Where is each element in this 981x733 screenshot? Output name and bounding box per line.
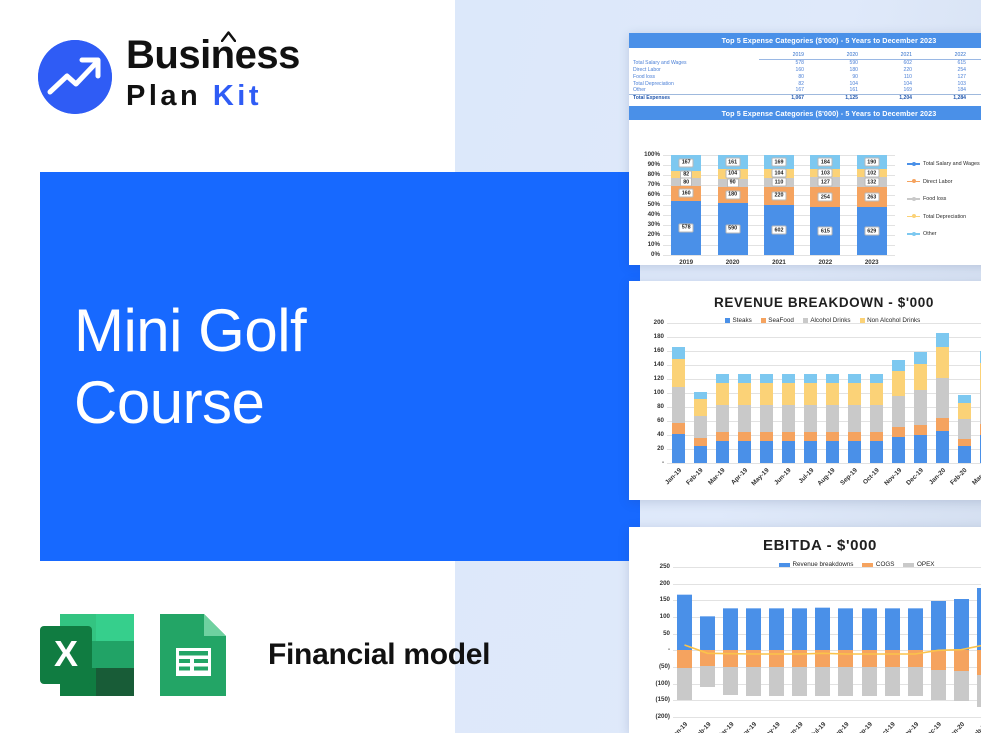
- axis-label-cell: May-19: [765, 719, 788, 733]
- axis-label-cell: Dec-19: [927, 719, 950, 733]
- bar-value-label: 263: [864, 193, 879, 202]
- bar-group: [738, 323, 751, 463]
- legend-label: Food loss: [923, 196, 946, 202]
- axis-label-cell: Feb-20: [973, 719, 981, 733]
- google-sheets-icon: [144, 612, 242, 698]
- axis-label-cell: Jun-19: [777, 465, 799, 495]
- expense-bars: 1678280160578161104901805901691041102206…: [663, 155, 895, 255]
- axis-label: Jan-19: [670, 721, 689, 733]
- legend-item[interactable]: Other: [907, 231, 981, 237]
- bar-group: [936, 323, 949, 463]
- brand-plan-text: Plan: [126, 80, 201, 112]
- axis-label: Jun-19: [773, 467, 793, 487]
- bar-group: [958, 323, 971, 463]
- ebitda-chart-title: EBITDA - $'000: [629, 537, 981, 554]
- bar-group: [760, 323, 773, 463]
- legend-label: Total Salary and Wages: [923, 161, 980, 167]
- axis-label: Feb-20: [949, 467, 969, 487]
- revenue-bars: [667, 323, 981, 463]
- bar-group: 1678280160578: [671, 155, 701, 255]
- ebitda-card[interactable]: EBITDA - $'000 Revenue breakdownsCOGSOPE…: [629, 527, 981, 733]
- ebitda-chart-plot: 25020015010050-(50)(100)(150)(200): [673, 567, 981, 717]
- legend-label: Other: [923, 231, 936, 237]
- revenue-chart-title: REVENUE BREAKDOWN - $'000: [629, 295, 981, 310]
- axis-label-cell: Jan-19: [673, 719, 696, 733]
- axis-label: Sep-19: [854, 721, 874, 733]
- axis-label: Feb-19: [693, 721, 713, 733]
- axis-label-cell: Mar-19: [719, 719, 742, 733]
- axis-label: May-19: [761, 721, 781, 733]
- bar-value-label: 590: [725, 224, 740, 233]
- bar-value-label: 161: [725, 158, 740, 167]
- slide-canvas: Business Plan Kit Mini Golf Course: [0, 0, 981, 733]
- axis-label: 2023: [857, 259, 887, 265]
- axis-label-cell: Jul-19: [811, 719, 834, 733]
- axis-label: Jan-20: [928, 467, 947, 486]
- axis-label: Oct-19: [862, 467, 881, 486]
- axis-label: Aug-19: [831, 721, 851, 733]
- growth-arrow-icon: [38, 40, 112, 114]
- axis-label-cell: Feb-19: [696, 719, 719, 733]
- table-row: Total Expenses1,0671,1251,2041,2841,316: [629, 94, 981, 102]
- legend-item[interactable]: Food loss: [907, 196, 981, 202]
- bar-value-label: 169: [771, 158, 786, 167]
- table-row: Direct Labor160180220254263: [629, 67, 981, 74]
- bar-group: [914, 323, 927, 463]
- expense-table: 20192020202120222023Total Salary and Wag…: [629, 52, 981, 102]
- axis-label-cell: Jun-19: [788, 719, 811, 733]
- legend-swatch: [903, 563, 914, 567]
- axis-label-cell: Sep-19: [858, 719, 881, 733]
- table-row: Food loss8090110127132: [629, 73, 981, 80]
- axis-label: Mar-19: [716, 721, 736, 733]
- bar-value-label: 184: [818, 158, 833, 167]
- bar-group: [892, 323, 905, 463]
- axis-label: Jul-19: [797, 467, 815, 485]
- legend-item[interactable]: Total Depreciation: [907, 214, 981, 220]
- bar-group: [826, 323, 839, 463]
- brand-logo: Business Plan Kit: [38, 33, 328, 121]
- axis-label: Nov-19: [900, 721, 920, 733]
- axis-label: Feb-19: [685, 467, 705, 487]
- expense-table-banner: Top 5 Expense Categories ($'000) - 5 Yea…: [629, 33, 981, 48]
- axis-label: Jun-19: [785, 721, 805, 733]
- bar-value-label: 629: [864, 227, 879, 236]
- svg-text:X: X: [54, 633, 78, 674]
- format-label: Financial model: [268, 638, 490, 672]
- ebitda-line-series: [673, 567, 981, 717]
- axis-label: Jul-19: [810, 721, 828, 733]
- axis-label: 2022: [810, 259, 840, 265]
- bar-value-label: 578: [679, 223, 694, 232]
- legend-label: Direct Labor: [923, 179, 952, 185]
- brand-line-business: Business: [126, 33, 336, 77]
- table-row: Total Salary and Wages578590602615629: [629, 59, 981, 66]
- revenue-chart-plot: 20018016014012010080604020-: [667, 323, 981, 463]
- brand-kit-text: Kit: [213, 80, 262, 112]
- table-row: Other167161169184190: [629, 87, 981, 94]
- bar-group: 169104110220602: [764, 155, 794, 255]
- axis-label: Dec-19: [905, 467, 925, 487]
- bar-group: 16110490180590: [718, 155, 748, 255]
- axis-label: Sep-19: [839, 467, 859, 487]
- axis-label-cell: Jan-20: [950, 719, 973, 733]
- bar-value-label: 602: [771, 226, 786, 235]
- bar-group: [694, 323, 707, 463]
- legend-swatch: [907, 181, 920, 183]
- revenue-x-axis-labels: Jan-19Feb-19Mar-19Apr-19May-19Jun-19Jul-…: [667, 465, 981, 495]
- axis-label: Jan-20: [947, 721, 966, 733]
- bar-group: [848, 323, 861, 463]
- ebitda-x-axis-labels: Jan-19Feb-19Mar-19Apr-19May-19Jun-19Jul-…: [673, 719, 981, 733]
- brand-line-plankit: Plan Kit: [126, 78, 336, 114]
- expense-chart-plot: 100%90%80%70%60%50%40%30%20%10%0% 167828…: [663, 155, 895, 255]
- axis-label: 2019: [671, 259, 701, 265]
- bar-value-label: 254: [818, 193, 833, 202]
- brand-business-text: Business: [126, 33, 300, 77]
- bar-value-label: 180: [725, 190, 740, 199]
- axis-label-cell: Aug-19: [834, 719, 857, 733]
- legend-item[interactable]: Total Salary and Wages: [907, 161, 981, 167]
- bar-group: [716, 323, 729, 463]
- revenue-breakdown-card[interactable]: REVENUE BREAKDOWN - $'000 SteaksSeaFoodA…: [629, 281, 981, 500]
- bar-value-label: 615: [818, 227, 833, 236]
- bar-value-label: 160: [679, 189, 694, 198]
- axis-label: 2021: [764, 259, 794, 265]
- bar-group: [782, 323, 795, 463]
- expense-x-axis-labels: 20192020202120222023: [663, 259, 895, 265]
- table-row: Total Depreciation82104104103102: [629, 80, 981, 87]
- expense-categories-card[interactable]: Top 5 Expense Categories ($'000) - 5 Yea…: [629, 33, 981, 265]
- bar-group: 184103127254615: [810, 155, 840, 255]
- page-title: Mini Golf Course: [74, 295, 594, 439]
- legend-swatch: [907, 198, 920, 200]
- expense-legend: Total Salary and WagesDirect LaborFood l…: [907, 161, 981, 237]
- bar-value-label: 132: [864, 178, 879, 187]
- axis-label: 2020: [718, 259, 748, 265]
- bar-value-label: 110: [772, 178, 787, 187]
- axis-label: Apr-19: [730, 467, 749, 486]
- bar-group: [672, 323, 685, 463]
- bar-value-label: 167: [679, 158, 694, 167]
- legend-swatch: [907, 163, 920, 165]
- axis-label: Oct-19: [878, 721, 897, 733]
- legend-swatch: [779, 563, 790, 567]
- brand-wordmark: Business Plan Kit: [126, 33, 336, 114]
- axis-label: Mar-19: [707, 467, 727, 487]
- format-row: X Financial model: [38, 612, 490, 698]
- bar-group: [870, 323, 883, 463]
- bar-value-label: 220: [771, 191, 786, 200]
- axis-label: Dec-19: [923, 721, 943, 733]
- axis-label-cell: Apr-19: [742, 719, 765, 733]
- axis-label: Jan-19: [664, 467, 683, 486]
- legend-swatch: [907, 233, 920, 235]
- bar-group: 190102132263629: [857, 155, 887, 255]
- bar-value-label: 127: [818, 178, 833, 187]
- microsoft-excel-icon: X: [38, 612, 136, 698]
- bar-group: [804, 323, 817, 463]
- axis-label-cell: Nov-19: [904, 719, 927, 733]
- bar-value-label: 190: [864, 158, 879, 167]
- axis-label-cell: Mar-20: [975, 465, 981, 495]
- axis-label: Apr-19: [739, 721, 758, 733]
- bar-value-label: 104: [771, 169, 786, 178]
- legend-swatch: [862, 563, 873, 567]
- legend-item[interactable]: Direct Labor: [907, 179, 981, 185]
- expense-chart-banner: Top 5 Expense Categories ($'000) - 5 Yea…: [629, 106, 981, 121]
- axis-label-cell: Oct-19: [881, 719, 904, 733]
- legend-swatch: [907, 216, 920, 218]
- legend-label: Total Depreciation: [923, 214, 966, 220]
